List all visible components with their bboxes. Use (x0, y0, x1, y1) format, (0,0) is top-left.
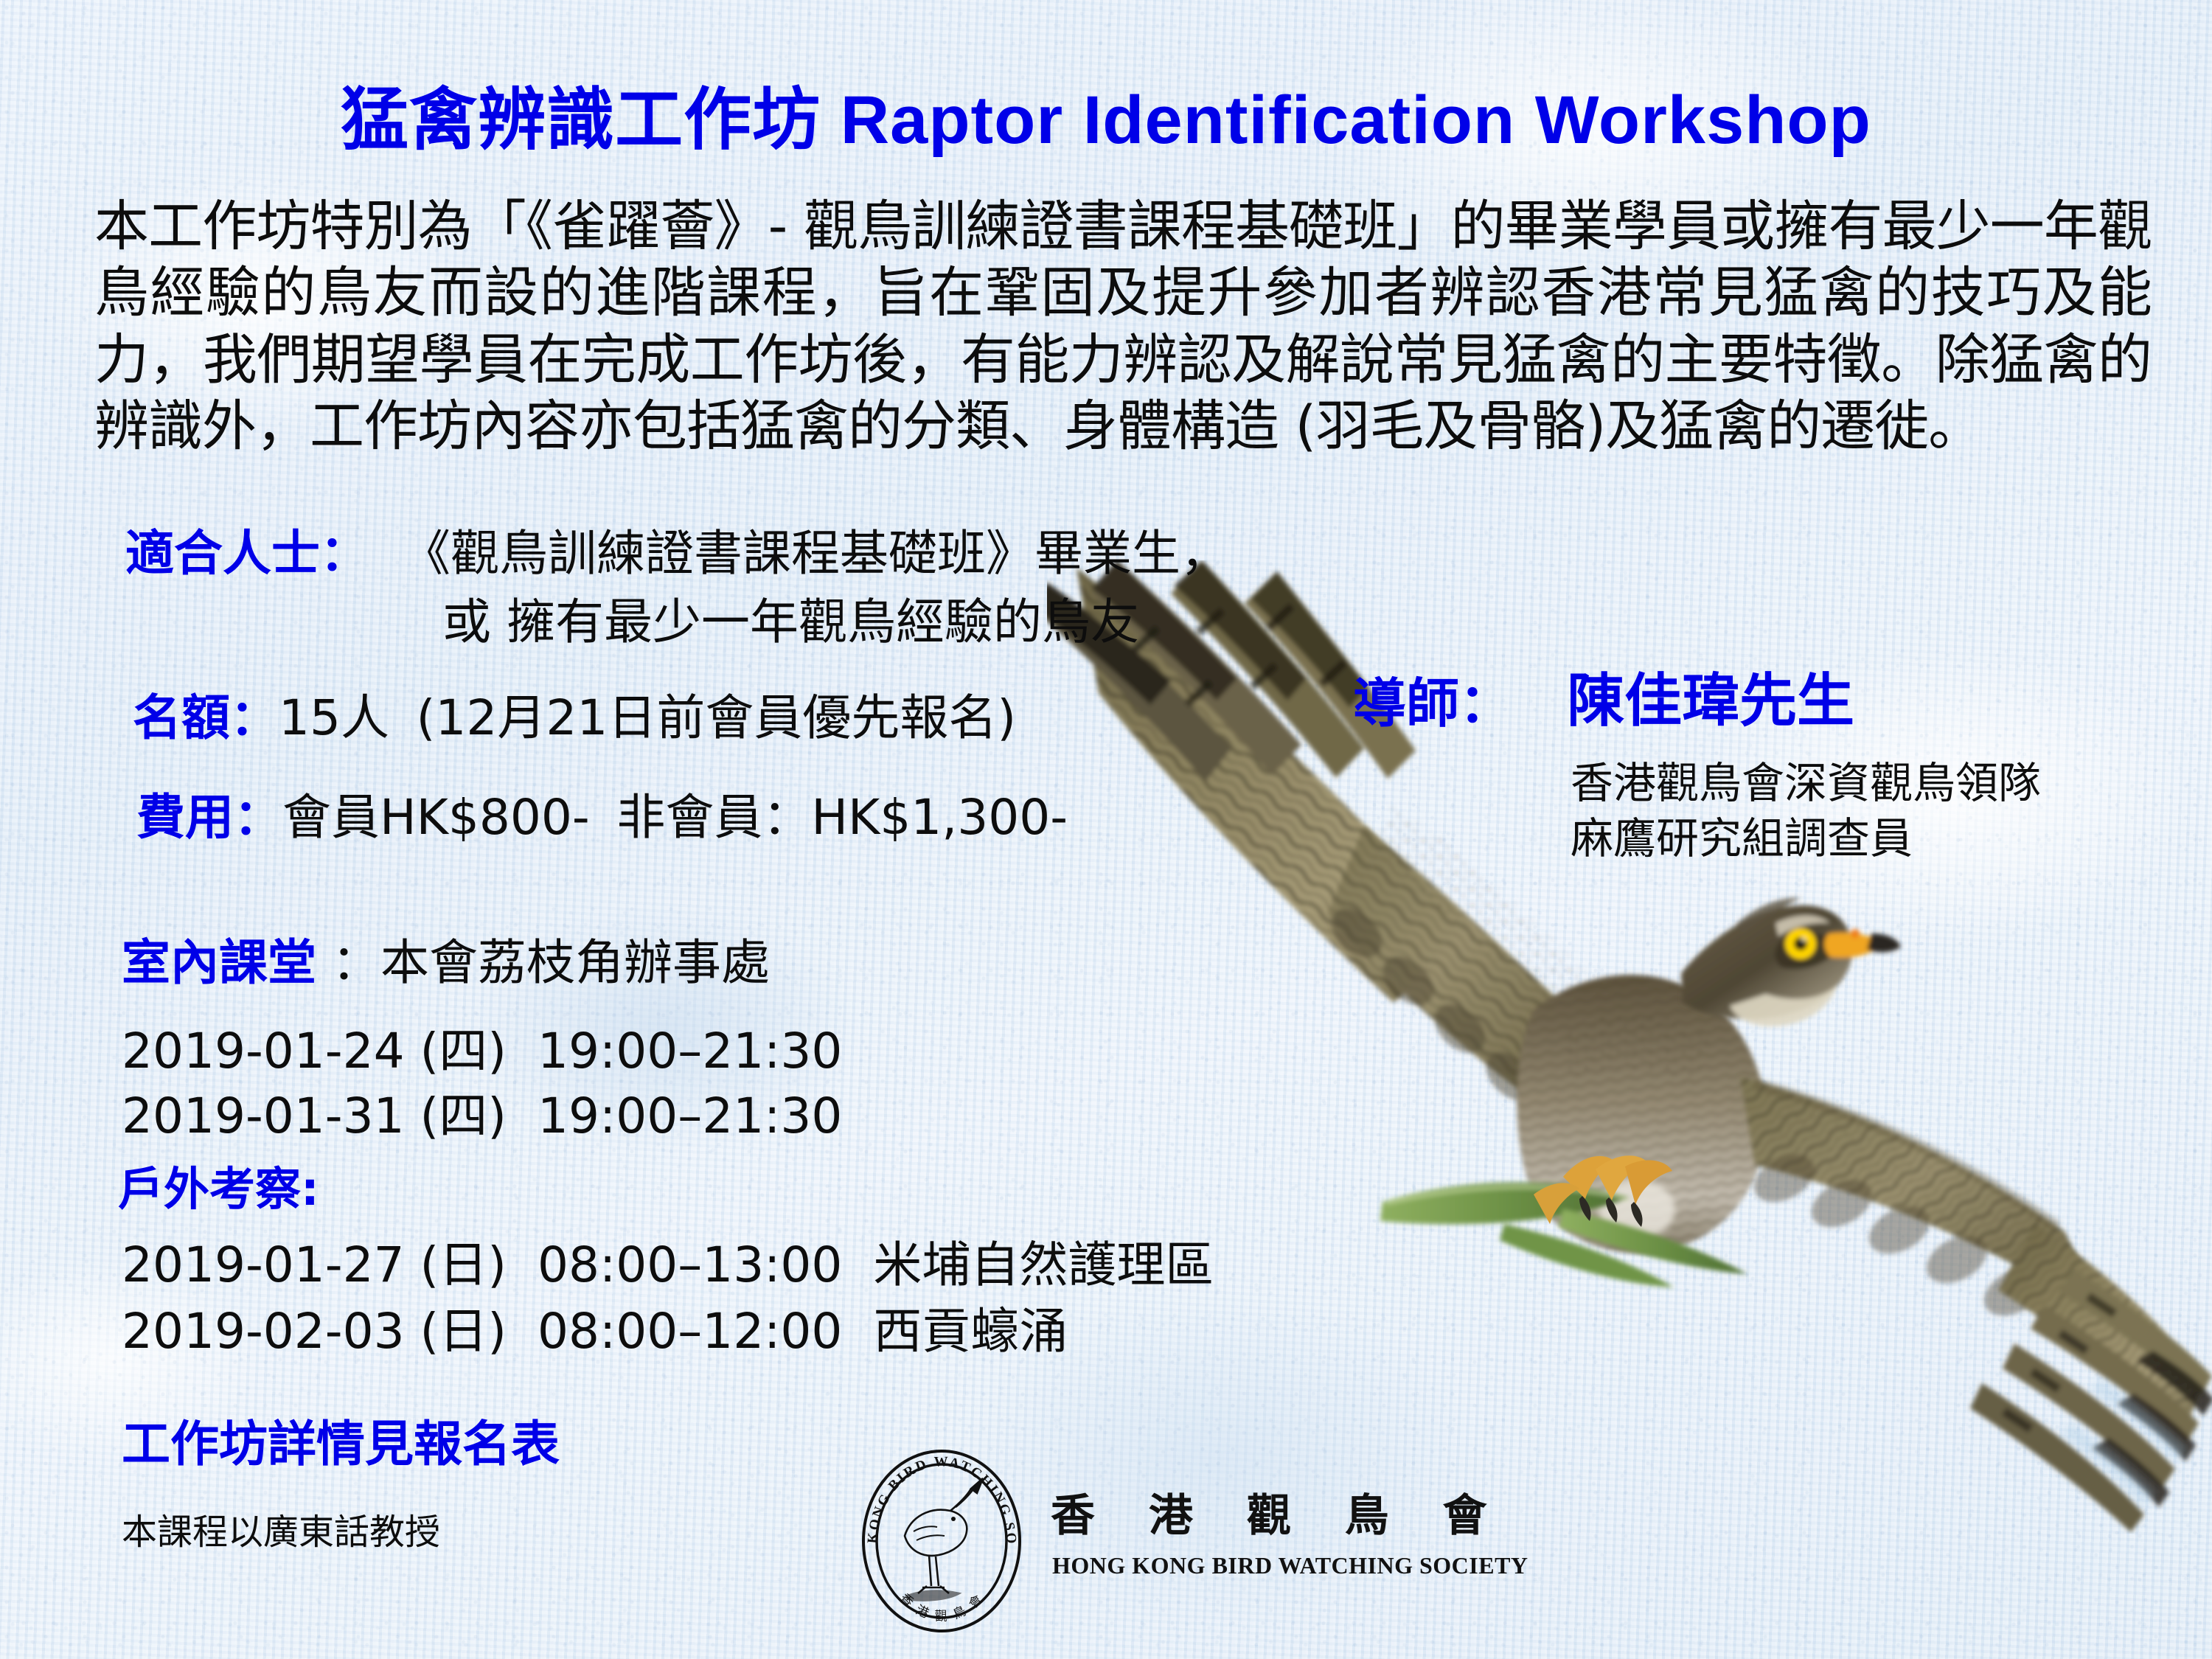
indoor-separator: ： (332, 934, 380, 991)
tutor-credential-2: 麻鷹研究組調查員 (1571, 804, 1913, 866)
indoor-heading: 室內課堂 ：本會荔枝角辦事處 (122, 923, 770, 994)
tutor-name: 陳佳瑋先生 (1567, 655, 1854, 737)
page-title: 猛禽辨識工作坊 Raptor Identification Workshop (0, 65, 2212, 163)
hkbws-logo: HONG KONG BIRD WATCHING SOCIETY 香 港 觀 鳥 … (859, 1449, 1419, 1633)
quota-note: (12月21日前會員優先報名) (417, 689, 1016, 746)
intro-paragraph: 本工作坊特別為「《雀躍薈》- 觀鳥訓練證書課程基礎班」的畢業學員或擁有最少一年觀… (94, 193, 2152, 459)
title-chinese: 猛禽辨識工作坊 (341, 80, 821, 159)
quota-value: 15人 (279, 689, 389, 746)
audience-label: 適合人士： (125, 514, 369, 585)
fee-row: 費用：會員HK$800- 非會員：HK$1,300- (136, 778, 1068, 849)
quota-row: 名額：15人 (12月21日前會員優先報名) (133, 678, 1016, 749)
logo-english-name: HONG KONG BIRD WATCHING SOCIETY (1052, 1552, 1528, 1579)
tutor-label: 導師： (1353, 660, 1512, 737)
hkbws-seal-icon: HONG KONG BIRD WATCHING SOCIETY 香 港 觀 鳥 … (859, 1449, 1025, 1633)
quota-label: 名額： (133, 689, 279, 746)
logo-chinese-name: 香 港 觀 鳥 會 (1051, 1480, 1506, 1544)
title-english: Raptor Identification Workshop (841, 83, 1871, 158)
outdoor-label: 戶外考察: (118, 1152, 319, 1218)
poster-canvas: 猛禽辨識工作坊 Raptor Identification Workshop 本… (0, 0, 2212, 1659)
fee-label: 費用： (136, 789, 282, 846)
indoor-venue: 本會荔枝角辦事處 (380, 934, 770, 991)
indoor-session-2: 2019-01-31 (四) 19:00–21:30 (122, 1077, 842, 1147)
tutor-credential-1: 香港觀鳥會深資觀鳥領隊 (1571, 748, 2041, 810)
language-note: 本課程以廣東話教授 (122, 1503, 440, 1554)
registration-details-note: 工作坊詳情見報名表 (122, 1405, 560, 1475)
audience-line-1: 《觀鳥訓練證書課程基礎班》畢業生， (402, 514, 1229, 585)
fee-member: 會員HK$800- (282, 789, 590, 846)
outdoor-session-1: 2019-01-27 (日) 08:00–13:00 米埔自然護理區 (122, 1225, 1214, 1296)
fee-nonmember: 非會員：HK$1,300- (616, 789, 1068, 846)
indoor-label: 室內課堂 (122, 934, 316, 991)
indoor-session-1: 2019-01-24 (四) 19:00–21:30 (122, 1012, 842, 1082)
outdoor-session-2: 2019-02-03 (日) 08:00–12:00 西貢蠔涌 (122, 1292, 1068, 1363)
audience-line-2: 或 擁有最少一年觀鳥經驗的鳥友 (442, 582, 1139, 653)
svg-text:HONG KONG BIRD WATCHING SOCIET: HONG KONG BIRD WATCHING SOCIETY (859, 1449, 1019, 1546)
